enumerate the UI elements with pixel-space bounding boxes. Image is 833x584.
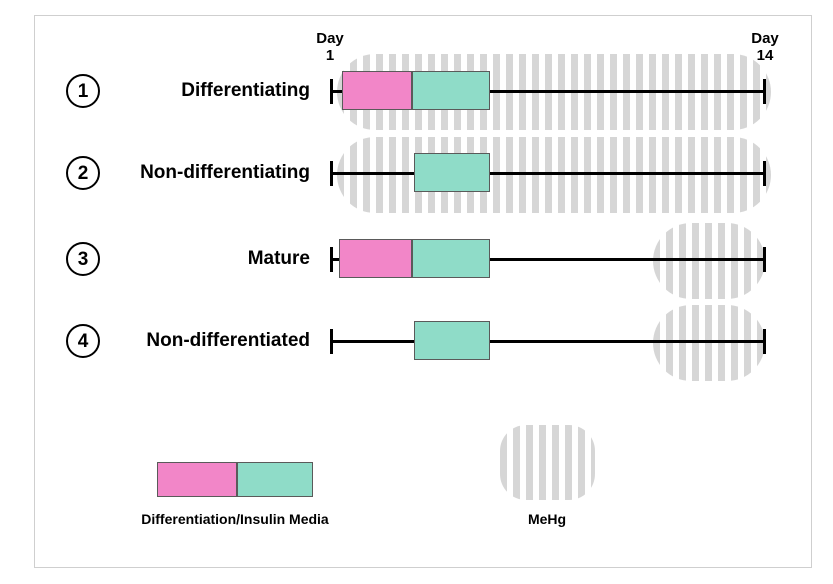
differentiation-media-box-row-3 <box>339 239 412 278</box>
legend-mehg-swatch <box>500 425 595 500</box>
legend-insulin-media-swatch <box>237 462 313 497</box>
mehg-band-row-4 <box>653 305 765 381</box>
row-label-4: Non-differentiated <box>90 330 310 352</box>
insulin-media-box-row-3 <box>412 239 490 278</box>
differentiation-media-box-row-1 <box>342 71 412 110</box>
insulin-media-box-row-1 <box>412 71 490 110</box>
timeline-row-4 <box>330 340 766 343</box>
timeline-end-tick-row-4 <box>763 329 766 354</box>
legend-differentiation-media-swatch <box>157 462 237 497</box>
timeline-end-tick-row-2 <box>763 161 766 186</box>
mehg-band-row-2 <box>337 137 771 213</box>
timeline-row-2 <box>330 172 766 175</box>
day-start-label: Day 1 <box>300 31 360 65</box>
figure-canvas: Day 1 Day 14 1 Differentiating 2 Non-dif… <box>0 0 833 584</box>
timeline-start-tick-row-4 <box>330 329 333 354</box>
mehg-band-row-3 <box>653 223 765 299</box>
legend-mehg-caption: MeHg <box>472 511 622 527</box>
timeline-start-tick-row-2 <box>330 161 333 186</box>
row-label-3: Mature <box>110 248 310 270</box>
timeline-start-tick-row-1 <box>330 79 333 104</box>
timeline-start-tick-row-3 <box>330 247 333 272</box>
row-label-1: Differentiating <box>110 80 310 102</box>
row-number-3: 3 <box>66 242 100 276</box>
timeline-end-tick-row-1 <box>763 79 766 104</box>
row-number-1: 1 <box>66 74 100 108</box>
insulin-media-box-row-4 <box>414 321 490 360</box>
legend-media-caption: Differentiation/Insulin Media <box>85 511 385 527</box>
insulin-media-box-row-2 <box>414 153 490 192</box>
timeline-end-tick-row-3 <box>763 247 766 272</box>
row-label-2: Non-differentiating <box>90 162 310 184</box>
